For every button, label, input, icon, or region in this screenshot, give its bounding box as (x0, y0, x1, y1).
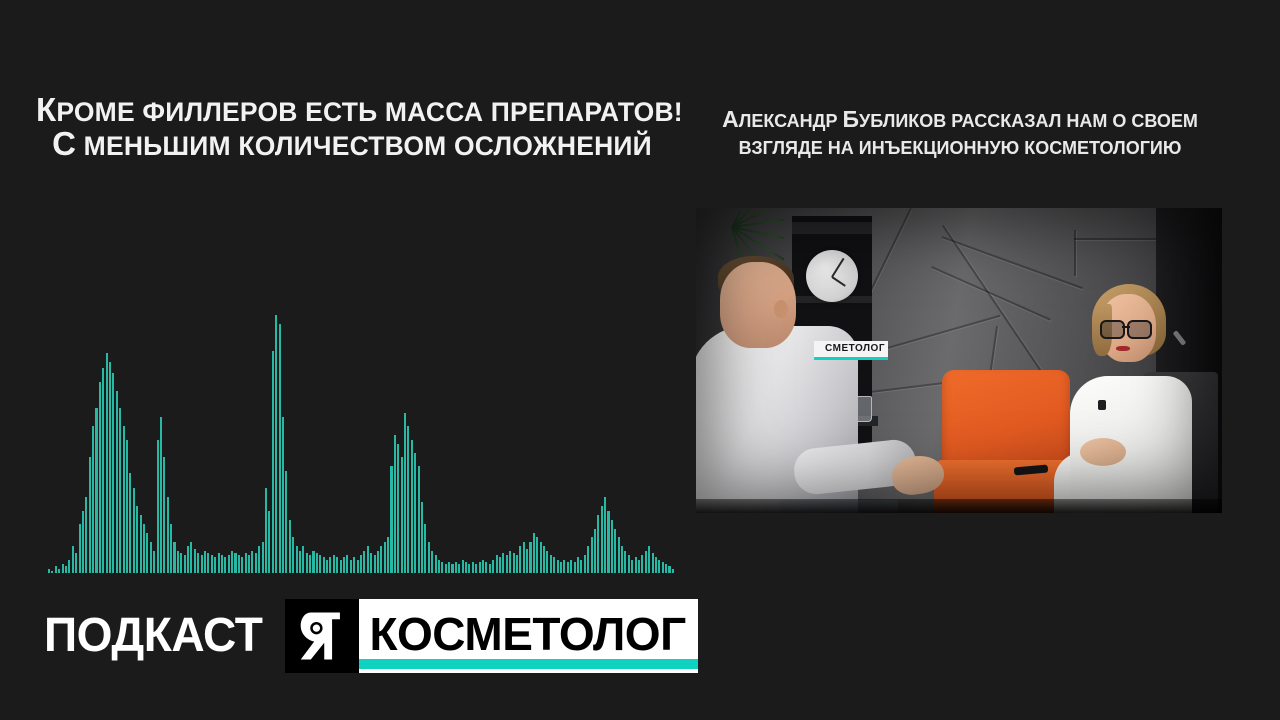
eyeglass-lens-right (1127, 320, 1152, 339)
waveform-bar (55, 566, 57, 573)
waveform-bar (65, 566, 67, 573)
waveform-bar (51, 571, 53, 573)
waveform-bar (329, 557, 331, 573)
waveform-bar (479, 562, 481, 573)
waveform-bar (234, 553, 236, 573)
waveform-bar (557, 560, 559, 573)
waveform-bar (48, 569, 50, 573)
waveform-bar (445, 564, 447, 573)
waveform-bar (79, 524, 81, 573)
waveform-bar (285, 471, 287, 573)
waveform-bar (241, 557, 243, 573)
headline-line-1: Кроме филлеров есть масса препаратов! (36, 96, 668, 130)
waveform-bar (306, 553, 308, 573)
waveform-bar (89, 457, 91, 573)
waveform-bar (363, 551, 365, 573)
subtitle-line-1-mid: лександр (739, 111, 843, 131)
waveform-bar (201, 555, 203, 573)
waveform-bar (126, 440, 128, 573)
waveform-bar (360, 555, 362, 573)
video-preview-canvas: Кроме филлеров есть масса препаратов! С … (0, 0, 1280, 720)
waveform-bar (299, 551, 301, 573)
waveform-bar (509, 551, 511, 573)
waveform-bar (82, 511, 84, 573)
waveform-bar (133, 488, 135, 573)
shelf-board-top (792, 222, 872, 234)
waveform-bar (458, 564, 460, 573)
waveform-bar (628, 555, 630, 573)
waveform-bar (533, 533, 535, 573)
waveform-bar (282, 417, 284, 573)
waveform-bar (323, 557, 325, 573)
waveform-bar (499, 557, 501, 573)
waveform-bar (404, 413, 406, 573)
waveform-bar (472, 562, 474, 573)
waveform-bar (384, 542, 386, 573)
wall-panel-line (1074, 238, 1162, 240)
waveform-bar (296, 546, 298, 573)
logo-brand-plate: КОСМЕТОЛОГ (359, 599, 697, 673)
video-thumbnail[interactable]: СМЕТОЛОГ (696, 208, 1222, 513)
waveform-bar (587, 546, 589, 573)
waveform-bar (513, 553, 515, 573)
waveform-bar (58, 569, 60, 573)
waveform-bar (394, 435, 396, 573)
waveform-bar (601, 506, 603, 573)
waveform-bar (441, 562, 443, 573)
waveform-bar (387, 537, 389, 573)
waveform-bar (190, 542, 192, 573)
waveform-bar (635, 557, 637, 573)
waveform-bar (194, 549, 196, 573)
waveform-bar (597, 515, 599, 573)
waveform-bar (380, 546, 382, 573)
headline-line-2-text: меньшим количеством осложнений (76, 131, 652, 161)
wall-clock-icon (806, 250, 858, 302)
waveform-bar (68, 560, 70, 573)
guest-lips (1116, 346, 1130, 351)
clock-hour-hand (831, 276, 845, 287)
waveform-bar (309, 555, 311, 573)
waveform-bar (116, 391, 118, 573)
waveform-bar (563, 560, 565, 573)
waveform-bar (407, 426, 409, 573)
waveform-bar (350, 560, 352, 573)
waveform-bar (574, 562, 576, 573)
waveform-bar (455, 562, 457, 573)
waveform-bar (319, 555, 321, 573)
waveform-bar (526, 549, 528, 573)
waveform-bar (333, 555, 335, 573)
waveform-bar (553, 557, 555, 573)
waveform-bar (401, 457, 403, 573)
waveform-bar (580, 560, 582, 573)
waveform-bar (485, 562, 487, 573)
eyeglass-lens-left (1100, 320, 1125, 339)
waveform-bar (150, 542, 152, 573)
waveform-bar (197, 553, 199, 573)
waveform-bar (502, 553, 504, 573)
wall-panel-line (1074, 230, 1076, 276)
waveform-bar (187, 546, 189, 573)
waveform-bar (180, 553, 182, 573)
subtitle-line-2: взгляде на инъекционную косметологию (696, 135, 1224, 162)
waveform-bar (224, 557, 226, 573)
waveform-bar (75, 553, 77, 573)
waveform-bar (302, 546, 304, 573)
waveform-bar (289, 520, 291, 573)
waveform-bar (438, 560, 440, 573)
waveform-bar (72, 546, 74, 573)
waveform-bar (607, 511, 609, 573)
waveform-bar (129, 473, 131, 573)
audio-waveform[interactable] (48, 315, 660, 573)
waveform-bar (431, 551, 433, 573)
waveform-bar (106, 353, 108, 573)
waveform-bar (160, 417, 162, 573)
waveform-bar (411, 440, 413, 573)
lower-third-nameplate: СМЕТОЛОГ (814, 341, 888, 360)
waveform-bar (92, 426, 94, 573)
waveform-bar (184, 555, 186, 573)
headline-line-2-initial: С (52, 125, 76, 162)
waveform-bar (326, 560, 328, 573)
waveform-bar (112, 373, 114, 573)
waveform-bar (340, 560, 342, 573)
waveform-bar (424, 524, 426, 573)
waveform-bar (428, 542, 430, 573)
waveform-bar (123, 426, 125, 573)
waveform-bar (641, 555, 643, 573)
waveform-bar (211, 555, 213, 573)
waveform-bar (648, 546, 650, 573)
waveform-bar (662, 562, 664, 573)
waveform-bar (536, 537, 538, 573)
waveform-bar (655, 557, 657, 573)
waveform-bar (523, 542, 525, 573)
waveform-bar (143, 524, 145, 573)
guest-hands (1080, 438, 1126, 466)
waveform-bar (119, 408, 121, 573)
waveform-bar (95, 408, 97, 573)
waveform-bar (489, 564, 491, 573)
clock-minute-hand (831, 258, 844, 278)
waveform-bar (228, 555, 230, 573)
subtitle-line-1-initial-2: Б (842, 106, 859, 132)
waveform-bar (672, 569, 674, 573)
waveform-bar (397, 444, 399, 573)
waveform-bar (221, 555, 223, 573)
waveform-bar (468, 564, 470, 573)
waveform-bar (262, 542, 264, 573)
waveform-bar (550, 555, 552, 573)
waveform-bar (245, 553, 247, 573)
waveform-bar (207, 553, 209, 573)
waveform-bar (390, 466, 392, 573)
waveform-bar (85, 497, 87, 573)
waveform-bar (62, 564, 64, 573)
waveform-bar (367, 546, 369, 573)
waveform-bar (475, 564, 477, 573)
waveform-bar (163, 457, 165, 573)
waveform-bar (292, 537, 294, 573)
waveform-bar (652, 553, 654, 573)
logo-podcast-word: ПОДКАСТ (44, 612, 262, 660)
waveform-bar (336, 557, 338, 573)
waveform-bar (496, 555, 498, 573)
waveform-bar (540, 542, 542, 573)
waveform-bar (238, 555, 240, 573)
waveform-bar (279, 324, 281, 573)
waveform-bar (482, 560, 484, 573)
logo-brand-word: КОСМЕТОЛОГ (369, 611, 685, 657)
waveform-bar (146, 533, 148, 573)
waveform-bar (343, 557, 345, 573)
waveform-bar (204, 551, 206, 573)
logo-mark-ya-icon (285, 599, 359, 673)
waveform-bar (519, 546, 521, 573)
waveform-bar (645, 551, 647, 573)
waveform-bar (591, 537, 593, 573)
waveform-bar (353, 557, 355, 573)
waveform-bar (516, 555, 518, 573)
waveform-bar (173, 542, 175, 573)
waveform-bar (218, 553, 220, 573)
waveform-bar (611, 520, 613, 573)
waveform-bar (638, 560, 640, 573)
waveform-bar (316, 553, 318, 573)
waveform-bar (170, 524, 172, 573)
waveform-bar (546, 551, 548, 573)
waveform-bar (543, 546, 545, 573)
waveform-bar (255, 553, 257, 573)
subtitle-line-1-text: убликов рассказал нам о своем (859, 111, 1198, 131)
waveform-bar (374, 555, 376, 573)
host-ear (774, 300, 788, 318)
waveform-bar (421, 502, 423, 573)
waveform-bar (448, 562, 450, 573)
waveform-bar (153, 551, 155, 573)
eyeglass-bridge (1122, 326, 1130, 328)
studio-floor (696, 499, 1222, 513)
waveform-bar (492, 560, 494, 573)
waveform-bar (614, 529, 616, 573)
waveform-bar (109, 362, 111, 573)
page-title: Кроме филлеров есть масса препаратов! С … (36, 96, 668, 164)
waveform-bar (258, 546, 260, 573)
waveform-bar (624, 551, 626, 573)
waveform-bar (631, 560, 633, 573)
waveform-bar (506, 555, 508, 573)
logo-accent-bar (359, 659, 697, 669)
waveform-bar (248, 555, 250, 573)
waveform-bar (465, 562, 467, 573)
waveform-bar (604, 497, 606, 573)
waveform-bar (418, 466, 420, 573)
waveform-bar (570, 560, 572, 573)
waveform-bar (136, 506, 138, 573)
waveform-bar (275, 315, 277, 573)
podcast-logo: ПОДКАСТ КОСМЕТОЛОГ (44, 598, 698, 674)
waveform-bar (312, 551, 314, 573)
waveform-bar (665, 564, 667, 573)
guest-eyeglasses (1100, 320, 1152, 335)
waveform-bar (560, 562, 562, 573)
waveform-bar (265, 488, 267, 573)
waveform-bar (167, 497, 169, 573)
waveform-bar (177, 551, 179, 573)
waveform-bar (668, 566, 670, 573)
subtitle-line-1: Александр Бубликов рассказал нам о своем (696, 108, 1224, 135)
waveform-bar (435, 555, 437, 573)
waveform-bar (414, 453, 416, 573)
headline-line-1-text: роме филлеров есть масса препаратов! (56, 97, 682, 127)
waveform-bar (214, 557, 216, 573)
waveform-bar (346, 555, 348, 573)
waveform-bar (567, 562, 569, 573)
waveform-bar (577, 557, 579, 573)
waveform-bar (529, 542, 531, 573)
waveform-bar (377, 551, 379, 573)
subtitle-line-1-initial: А (722, 106, 739, 132)
waveform-bar (140, 515, 142, 573)
waveform-bar (658, 560, 660, 573)
waveform-bar (618, 537, 620, 573)
waveform-bar (621, 546, 623, 573)
waveform-bar (268, 511, 270, 573)
waveform-bar (370, 553, 372, 573)
waveform-bar (594, 529, 596, 573)
waveform-bar (451, 564, 453, 573)
lavalier-microphone (1098, 400, 1106, 410)
waveform-bar (251, 551, 253, 573)
waveform-bar (99, 382, 101, 573)
headline-line-2: С меньшим количеством осложнений (36, 130, 668, 164)
waveform-bar (462, 560, 464, 573)
waveform-bar (157, 440, 159, 573)
waveform-bar (272, 351, 274, 573)
waveform-bar (231, 551, 233, 573)
waveform-bar (584, 555, 586, 573)
episode-subtitle: Александр Бубликов рассказал нам о своем… (696, 108, 1224, 162)
waveform-bar (357, 560, 359, 573)
headline-line-1-initial: К (36, 91, 56, 128)
waveform-bar (102, 368, 104, 573)
